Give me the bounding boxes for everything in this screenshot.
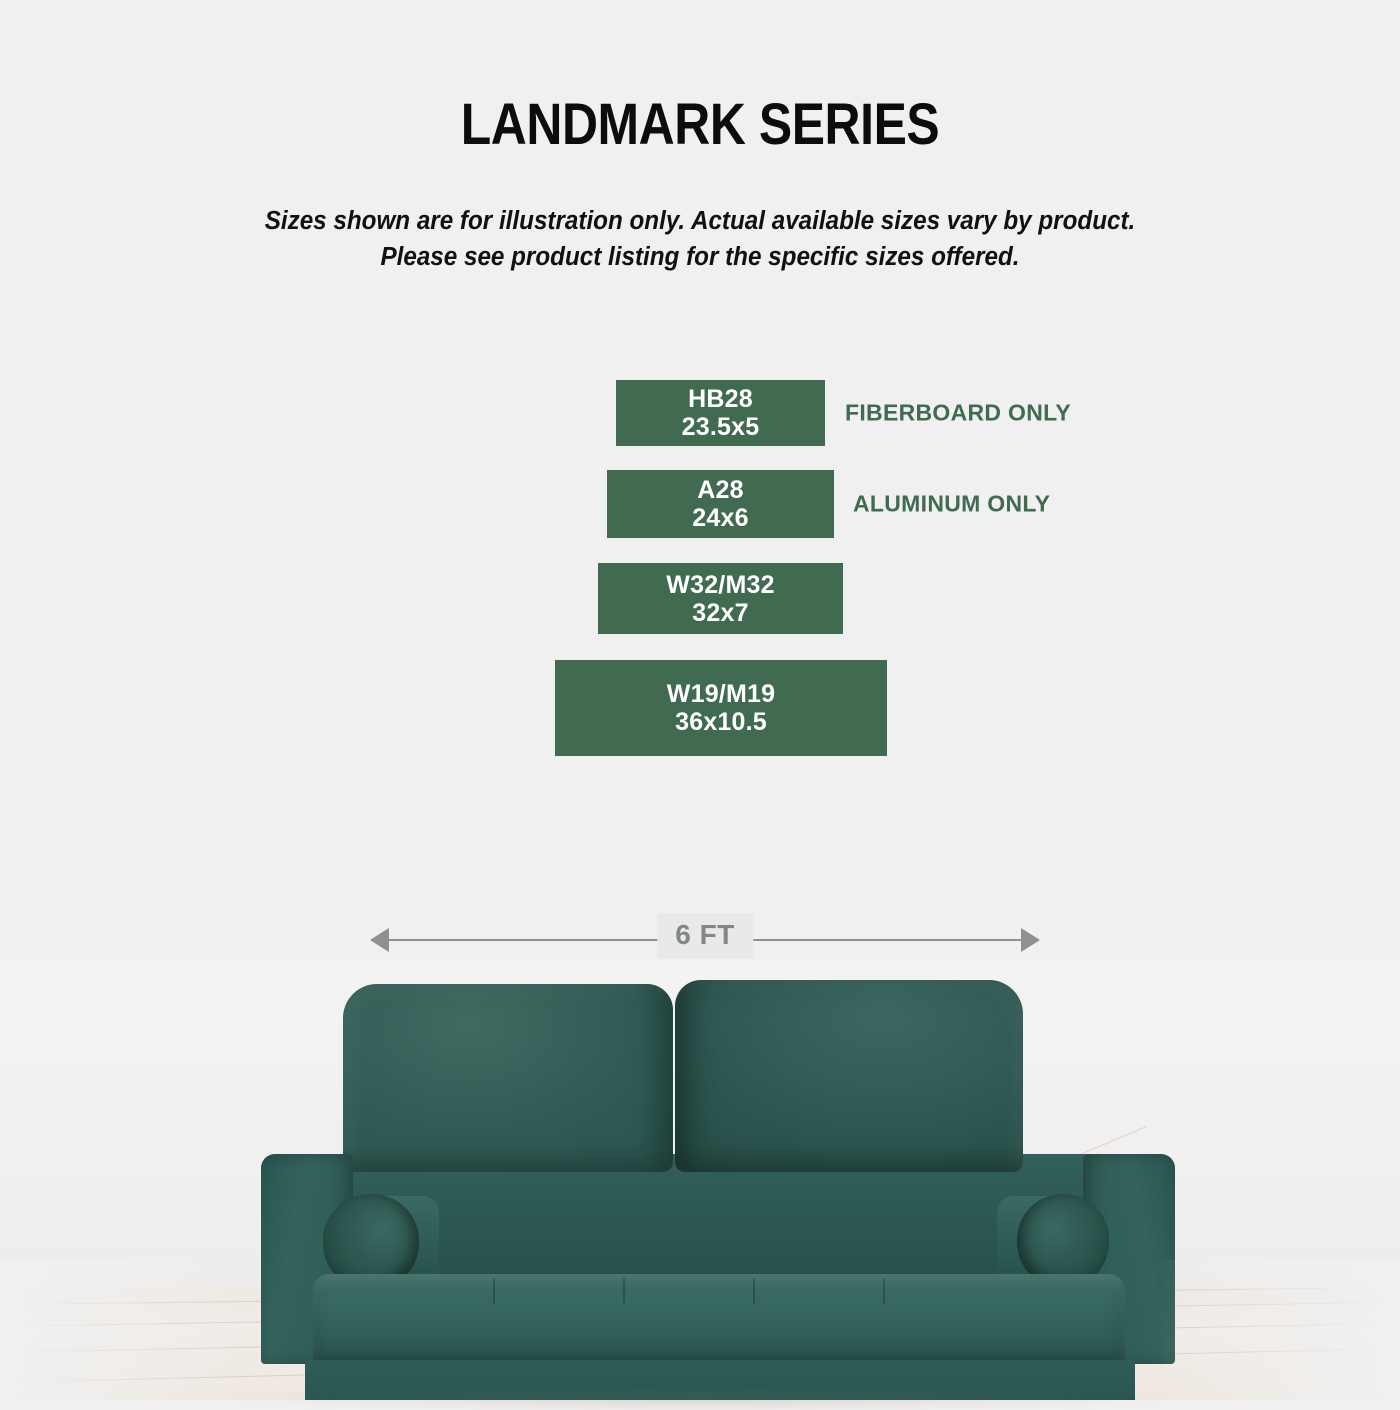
size-bar-dimensions: 36x10.5: [675, 708, 767, 736]
floor-fade-right: [1160, 1260, 1400, 1400]
size-bar-row-w32m32: W32/M32 32x7: [598, 563, 918, 634]
sofa-back-cushion-left: [343, 984, 673, 1172]
page-title: LANDMARK SERIES: [98, 96, 1302, 154]
page-subtitle: Sizes shown are for illustration only. A…: [35, 203, 1365, 275]
size-bar-row-hb28: HB28 23.5x5 FIBERBOARD ONLY: [616, 380, 1176, 446]
seat-tuft: [883, 1278, 885, 1304]
size-bar-row-w19m19: W19/M19 36x10.5: [555, 660, 955, 756]
sofa-scene: [0, 960, 1400, 1400]
size-bar-hb28[interactable]: HB28 23.5x5: [616, 380, 825, 446]
size-bar-dimensions: 24x6: [692, 504, 748, 532]
seat-tuft: [753, 1278, 755, 1304]
size-bar-model: HB28: [688, 385, 753, 413]
seat-tuft: [623, 1278, 625, 1304]
size-bar-note-aluminum: ALUMINUM ONLY: [853, 491, 1050, 518]
size-bar-w32m32[interactable]: W32/M32 32x7: [598, 563, 843, 634]
infographic-canvas: LANDMARK SERIES Sizes shown are for illu…: [0, 0, 1400, 1400]
arrow-right-icon: [1021, 928, 1040, 952]
sofa-illustration: [255, 978, 1180, 1378]
size-bar-model: W19/M19: [667, 680, 775, 708]
floor-fade-left: [0, 1260, 240, 1400]
dimension-indicator: 6 FT: [370, 919, 1040, 961]
size-bar-model: W32/M32: [666, 571, 774, 599]
size-bar-w19m19[interactable]: W19/M19 36x10.5: [555, 660, 887, 756]
size-bar-model: A28: [697, 476, 743, 504]
size-bar-a28[interactable]: A28 24x6: [607, 470, 834, 538]
sofa-seat-cushion: [313, 1274, 1125, 1368]
dimension-label: 6 FT: [657, 913, 753, 959]
subtitle-line-2: Please see product listing for the speci…: [35, 239, 1365, 275]
size-bar-row-a28: A28 24x6 ALUMINUM ONLY: [607, 470, 1177, 538]
seat-tuft: [493, 1278, 495, 1304]
size-bar-dimensions: 32x7: [692, 599, 748, 627]
size-bar-dimensions: 23.5x5: [682, 413, 760, 441]
size-bar-note-fiberboard: FIBERBOARD ONLY: [845, 400, 1071, 427]
subtitle-line-1: Sizes shown are for illustration only. A…: [35, 203, 1365, 239]
sofa-back-cushion-right: [675, 980, 1023, 1172]
sofa-shadow: [230, 1388, 1170, 1410]
